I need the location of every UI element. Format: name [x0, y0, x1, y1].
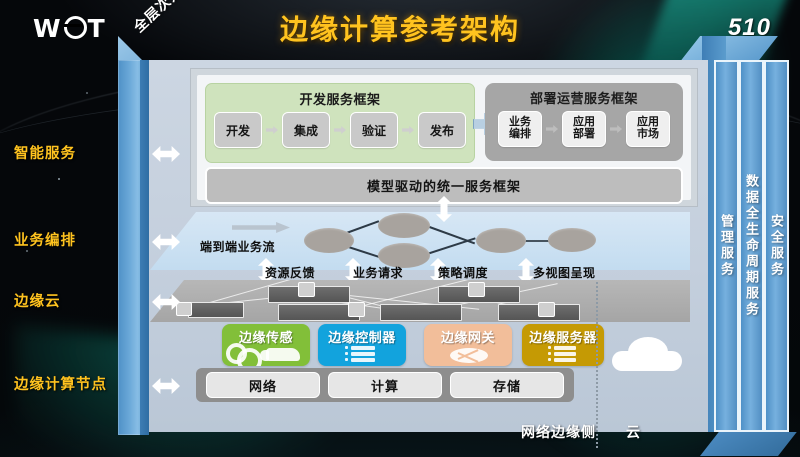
train-icon	[266, 348, 300, 361]
right-panel-security-label: 安全服务	[767, 214, 786, 278]
dev-step-verify[interactable]: 验证	[350, 112, 398, 148]
server-led-icon	[548, 358, 551, 361]
server-rack-icon	[351, 346, 375, 350]
bottom-label-network-edge: 网络边缘侧	[521, 422, 596, 442]
right-panel-data-lifecycle[interactable]: 数据全生命周期服务	[739, 60, 764, 432]
sidebar-label-edge-node: 边缘计算节点	[14, 373, 107, 394]
server-rack-icon	[554, 346, 576, 350]
sidebar-label-smart-service: 智能服务	[14, 142, 76, 163]
graph-node	[476, 228, 526, 253]
star	[86, 92, 88, 94]
ops-step-orchestration[interactable]: 业务 编排	[498, 111, 542, 147]
ops-step-line2: 市场	[637, 129, 659, 141]
chevron-right-icon	[610, 125, 622, 133]
star	[26, 250, 28, 252]
infrastructure-bar: 网络 计算 存储	[196, 368, 574, 402]
right-panel-management-label: 管理服务	[717, 214, 736, 278]
mesh-node	[176, 302, 192, 316]
chevron-right-icon	[402, 126, 414, 134]
train-icon	[260, 350, 269, 361]
dev-framework-title: 开发服务框架	[206, 84, 474, 108]
smart-service-panel-inner: 开发服务框架 开发 集成 验证 发布 部署运营服务框架 业务 编排	[197, 75, 691, 200]
interface-label-resource-feedback: 资源反馈	[265, 264, 315, 281]
ops-step-app-deploy[interactable]: 应用 部署	[562, 111, 606, 147]
infra-network[interactable]: 网络	[206, 372, 320, 398]
ops-service-framework: 部署运营服务框架 业务 编排 应用 部署 应用 市场	[485, 83, 683, 161]
infra-storage[interactable]: 存储	[450, 372, 564, 398]
smart-service-panel: 开发服务框架 开发 集成 验证 发布 部署运营服务框架 业务 编排	[190, 68, 698, 207]
gear-icon	[237, 348, 262, 366]
edge-node-server[interactable]: 边缘服务器	[522, 324, 604, 366]
server-rack-icon	[554, 358, 576, 362]
right-panel-management[interactable]: 管理服务	[714, 60, 739, 432]
edge-node-gateway[interactable]: 边缘网关	[424, 324, 512, 366]
graph-node	[548, 228, 596, 252]
chevron-right-icon	[266, 126, 278, 134]
chevron-right-icon	[334, 126, 346, 134]
edge-node-server-label: 边缘服务器	[522, 324, 604, 346]
edge-server-box	[380, 304, 462, 321]
edge-node-controller-label: 边缘控制器	[318, 324, 406, 346]
sidebar-label-orchestration: 业务编排	[14, 229, 76, 250]
dev-step-integrate[interactable]: 集成	[282, 112, 330, 148]
infra-compute[interactable]: 计算	[328, 372, 442, 398]
left-slab-side-face	[140, 60, 149, 435]
interface-label-policy-scheduling: 策略调度	[438, 264, 488, 281]
mesh-node	[538, 302, 555, 317]
ops-step-line2: 部署	[573, 129, 595, 141]
interface-label-multiview: 多视图呈现	[533, 264, 596, 281]
sidebar-label-edge-cloud: 边缘云	[14, 290, 61, 311]
edge-server-box	[188, 302, 244, 318]
slide-canvas: WT 边缘计算参考架构 510 全层次开放 开发服务框架 开发 集成 验证 发布	[0, 0, 800, 457]
ops-framework-title: 部署运营服务框架	[485, 83, 683, 107]
cloud-icon	[612, 337, 682, 371]
router-icon	[450, 348, 488, 363]
right-panel-data-lifecycle-label: 数据全生命周期服务	[742, 174, 761, 318]
end-to-end-flow-label: 端到端业务流	[200, 238, 275, 255]
edge-cloud-divider	[596, 282, 598, 448]
dev-step-release[interactable]: 发布	[418, 112, 466, 148]
mesh-node	[348, 302, 365, 317]
server-rack-icon	[351, 352, 375, 356]
server-led-icon	[548, 346, 551, 349]
edge-node-gateway-label: 边缘网关	[424, 324, 512, 346]
ops-step-app-market[interactable]: 应用 市场	[626, 111, 670, 147]
dev-framework-steps: 开发 集成 验证 发布	[206, 112, 474, 148]
server-led-icon	[345, 352, 348, 355]
ops-step-line2: 编排	[509, 129, 531, 141]
dev-step-develop[interactable]: 开发	[214, 112, 262, 148]
server-led-icon	[548, 352, 551, 355]
dev-service-framework: 开发服务框架 开发 集成 验证 发布	[205, 83, 475, 163]
bottom-label-cloud: 云	[626, 422, 641, 442]
server-led-icon	[345, 358, 348, 361]
server-led-icon	[345, 346, 348, 349]
server-rack-icon	[351, 358, 375, 362]
edge-node-sensing[interactable]: 边缘传感	[222, 324, 310, 366]
star	[58, 178, 60, 180]
interface-label-service-request: 业务请求	[353, 264, 403, 281]
graph-node	[304, 228, 354, 253]
edge-node-controller[interactable]: 边缘控制器	[318, 324, 406, 366]
mesh-node	[468, 282, 485, 297]
graph-node	[378, 213, 430, 238]
chevron-right-icon	[546, 125, 558, 133]
ops-framework-steps: 业务 编排 应用 部署 应用 市场	[485, 111, 683, 147]
server-rack-icon	[554, 352, 576, 356]
right-panel-security[interactable]: 安全服务	[764, 60, 789, 432]
mesh-node	[298, 282, 315, 297]
edge-cloud-slab	[150, 280, 690, 322]
